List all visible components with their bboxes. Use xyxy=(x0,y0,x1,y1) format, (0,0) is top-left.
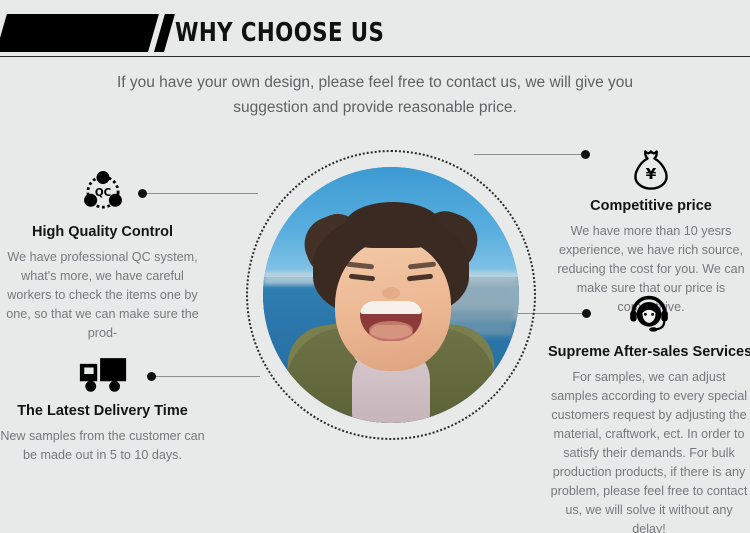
feature-after-sales-services: Supreme After-sales Services For samples… xyxy=(548,294,750,533)
headset-support-icon xyxy=(627,294,671,336)
feature-title: High Quality Control xyxy=(0,224,205,240)
feature-body: New samples from the customer can be mad… xyxy=(0,427,205,465)
feature-title: Supreme After-sales Services xyxy=(548,344,750,360)
header-black-slab xyxy=(0,14,159,52)
header-divider-rule xyxy=(0,56,750,57)
feature-title: Competitive price xyxy=(552,198,750,214)
feature-high-quality-control: QC High Quality Control We have professi… xyxy=(0,170,205,343)
feature-title: The Latest Delivery Time xyxy=(0,403,205,419)
svg-text:¥: ¥ xyxy=(646,165,657,183)
feature-latest-delivery-time: The Latest Delivery Time New samples fro… xyxy=(0,355,205,465)
header-bar: WHY CHOOSE US xyxy=(0,14,750,56)
why-choose-us-page: WHY CHOOSE US If you have your own desig… xyxy=(0,0,750,533)
page-title: WHY CHOOSE US xyxy=(175,14,384,52)
page-subtitle: If you have your own design, please feel… xyxy=(95,70,655,120)
svg-text:QC: QC xyxy=(94,187,110,199)
delivery-truck-icon xyxy=(77,355,129,393)
feature-competitive-price: ¥ Competitive price We have more than 10… xyxy=(552,148,750,317)
quality-control-icon: QC xyxy=(81,170,125,214)
photo-dotted-ring xyxy=(246,150,536,440)
feature-body: We have professional QC system, what's m… xyxy=(0,248,205,343)
feature-body: For samples, we can adjust samples accor… xyxy=(548,368,750,533)
money-bag-icon: ¥ xyxy=(631,148,671,190)
